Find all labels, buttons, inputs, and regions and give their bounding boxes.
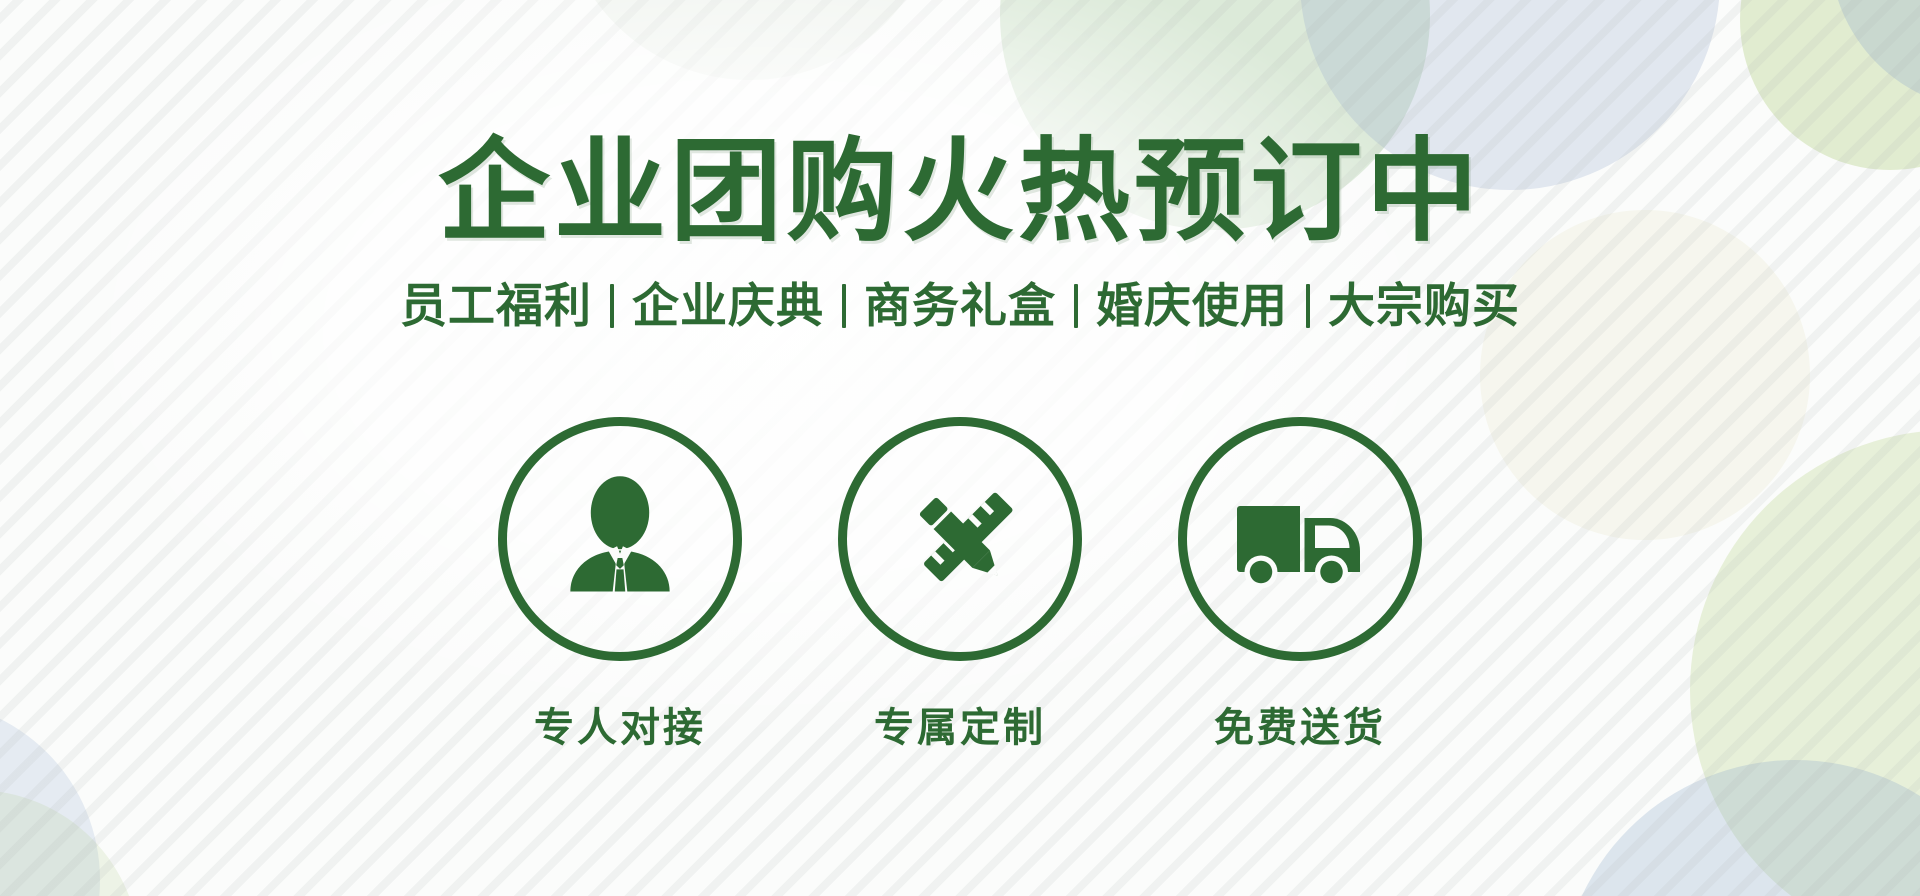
- subtitle-item-1: 企业庆典: [632, 282, 824, 329]
- subtitle-separator-icon: [1306, 284, 1310, 328]
- subtitle-item-4: 大宗购买: [1328, 282, 1520, 329]
- subtitle-list: 员工福利 企业庆典 商务礼盒 婚庆使用 大宗购买: [400, 282, 1520, 329]
- headline: 企业团购火热预订中: [438, 136, 1482, 248]
- feature-icon-circle: [498, 417, 742, 661]
- subtitle-item-3: 婚庆使用: [1096, 282, 1288, 329]
- feature-list: 专人对接: [498, 417, 1422, 753]
- feature-label: 免费送货: [1214, 695, 1386, 753]
- subtitle-item-0: 员工福利: [400, 282, 592, 329]
- feature-item-free-delivery: 免费送货: [1178, 417, 1422, 753]
- feature-icon-circle: [1178, 417, 1422, 661]
- banner-content: 企业团购火热预订中 员工福利 企业庆典 商务礼盒 婚庆使用 大宗购买: [0, 0, 1920, 896]
- businessman-icon: [547, 466, 693, 612]
- feature-item-custom-made: 专属定制: [838, 417, 1082, 753]
- subtitle-item-2: 商务礼盒: [864, 282, 1056, 329]
- feature-icon-circle: [838, 417, 1082, 661]
- promo-banner: 企业团购火热预订中 员工福利 企业庆典 商务礼盒 婚庆使用 大宗购买: [0, 0, 1920, 896]
- pencil-ruler-icon: [887, 466, 1033, 612]
- feature-item-dedicated-contact: 专人对接: [498, 417, 742, 753]
- delivery-truck-icon: [1225, 464, 1375, 614]
- subtitle-separator-icon: [842, 284, 846, 328]
- subtitle-separator-icon: [610, 284, 614, 328]
- feature-label: 专人对接: [534, 695, 706, 753]
- feature-label: 专属定制: [874, 695, 1046, 753]
- subtitle-separator-icon: [1074, 284, 1078, 328]
